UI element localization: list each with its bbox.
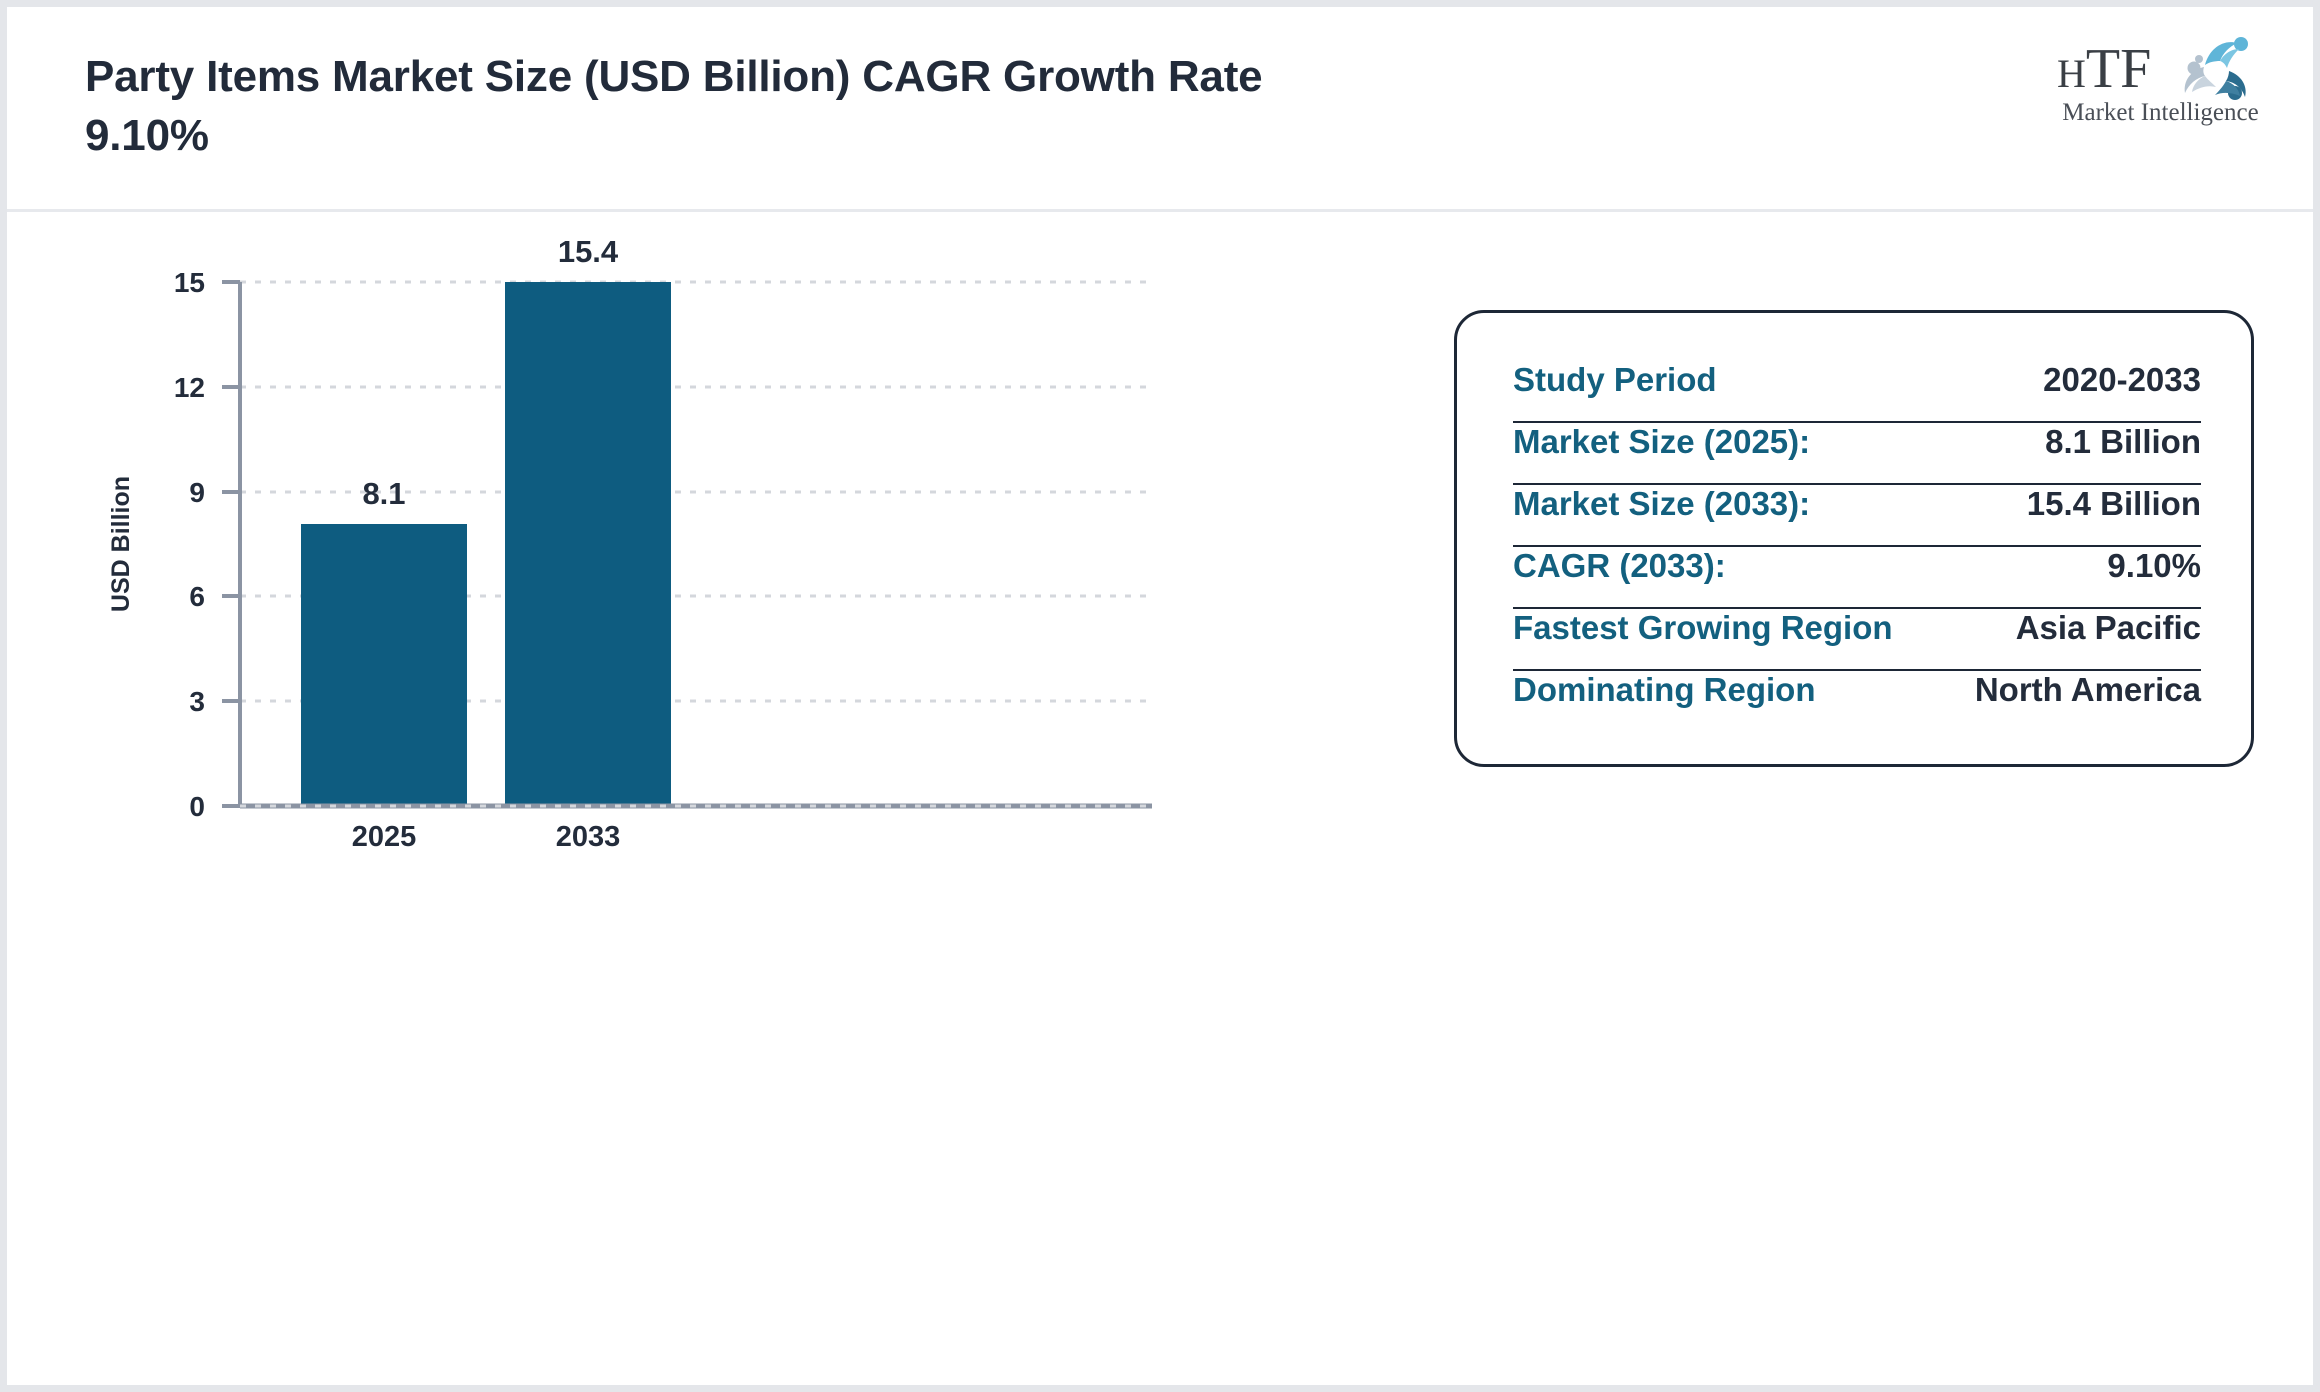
row-label-cagr-2033: CAGR (2033): (1513, 547, 1726, 585)
bar-2025[interactable] (301, 524, 467, 806)
row-value-study-period: 2020-2033 (2043, 361, 2201, 399)
row-value-fastest-growing-region: Asia Pacific (2016, 609, 2201, 647)
y-tick-labels: 15 12 9 6 3 0 (174, 267, 205, 822)
x-tick-label-2033: 2033 (556, 821, 621, 853)
x-tick-labels: 2025 2033 (352, 821, 621, 853)
logo-letter-h: H (2057, 51, 2086, 96)
row-label-market-size-2033: Market Size (2033): (1513, 485, 1810, 523)
y-tick-label: 0 (189, 791, 205, 822)
y-axis-title: USD Billion (107, 476, 135, 612)
table-row: Market Size (2033): 15.4 Billion (1513, 485, 2201, 547)
bar-chart: 15 12 9 6 3 0 USD Billion 2025 2033 8.1 (7, 212, 1407, 1386)
people-swirl-icon (2171, 31, 2267, 103)
row-label-fastest-growing-region: Fastest Growing Region (1513, 609, 1893, 647)
bar-label-2025: 8.1 (362, 476, 405, 511)
table-row: Fastest Growing Region Asia Pacific (1513, 609, 2201, 671)
card-header: Party Items Market Size (USD Billion) CA… (7, 7, 2313, 212)
chart-card: Party Items Market Size (USD Billion) CA… (0, 0, 2320, 1392)
y-tick-label: 6 (189, 581, 205, 612)
card-body: 15 12 9 6 3 0 USD Billion 2025 2033 8.1 (7, 212, 2313, 1386)
table-row: CAGR (2033): 9.10% (1513, 547, 2201, 609)
bar-label-2033: 15.4 (558, 234, 619, 269)
y-tick-label: 9 (189, 477, 205, 508)
logo-letter-f: F (2120, 38, 2151, 100)
page-title: Party Items Market Size (USD Billion) CA… (85, 47, 1385, 166)
row-value-cagr-2033: 9.10% (2107, 547, 2201, 585)
bar-chart-svg: 15 12 9 6 3 0 USD Billion 2025 2033 8.1 (7, 212, 1407, 1386)
market-summary-table: Study Period 2020-2033 Market Size (2025… (1513, 361, 2201, 733)
y-axis (222, 282, 240, 806)
y-tick-label: 3 (189, 686, 205, 717)
table-row: Study Period 2020-2033 (1513, 361, 2201, 423)
htf-market-intelligence-logo: HTF Market Inte (2053, 35, 2268, 131)
bar-2033[interactable] (505, 282, 671, 806)
logo-letter-t: T (2086, 38, 2120, 100)
x-tick-label-2025: 2025 (352, 821, 417, 853)
row-value-market-size-2025: 8.1 Billion (2045, 423, 2201, 461)
logo-subtitle: Market Intelligence (2053, 99, 2268, 127)
row-label-study-period: Study Period (1513, 361, 1717, 399)
row-value-dominating-region: North America (1975, 671, 2201, 709)
row-value-market-size-2033: 15.4 Billion (2027, 485, 2201, 523)
y-tick-label: 12 (174, 372, 205, 403)
logo-mark: HTF (2053, 35, 2268, 101)
table-row: Dominating Region North America (1513, 671, 2201, 733)
logo-wordmark: HTF (2057, 41, 2151, 97)
row-label-market-size-2025: Market Size (2025): (1513, 423, 1810, 461)
row-label-dominating-region: Dominating Region (1513, 671, 1815, 709)
table-row: Market Size (2025): 8.1 Billion (1513, 423, 2201, 485)
y-tick-label: 15 (174, 267, 205, 298)
market-summary-panel: Study Period 2020-2033 Market Size (2025… (1454, 310, 2254, 767)
